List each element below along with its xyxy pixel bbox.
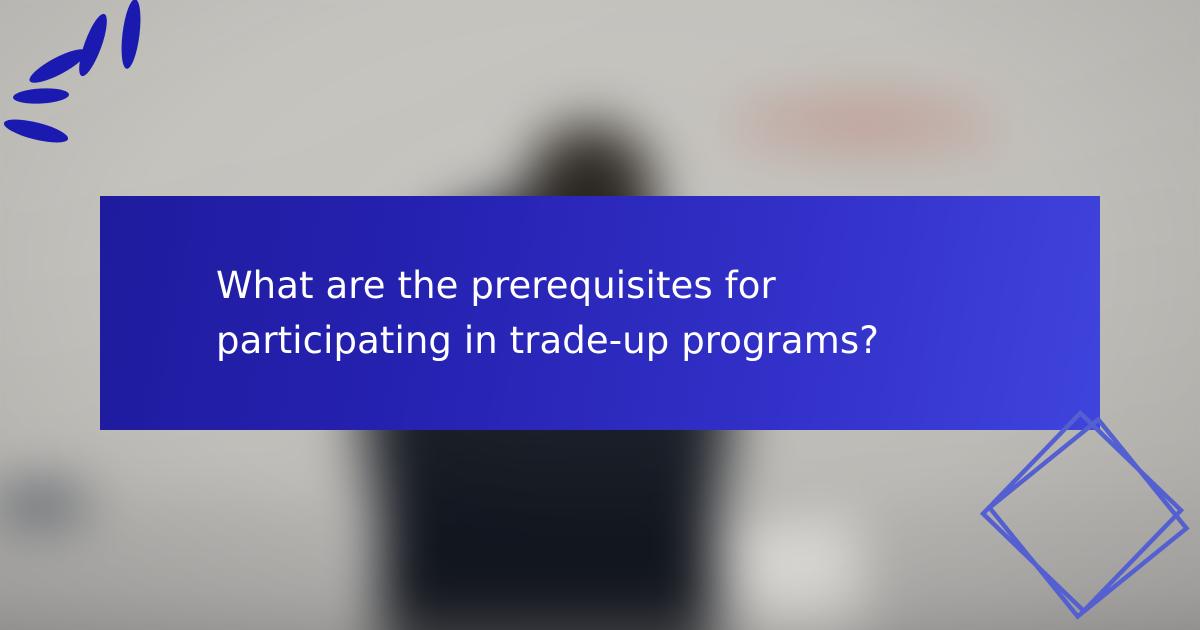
starburst-icon: [0, 0, 200, 180]
question-banner: What are the prerequisites for participa…: [100, 196, 1100, 430]
question-text: What are the prerequisites for participa…: [100, 258, 1066, 368]
social-card: What are the prerequisites for participa…: [0, 0, 1200, 630]
diamond-outlines-icon: [970, 400, 1200, 630]
